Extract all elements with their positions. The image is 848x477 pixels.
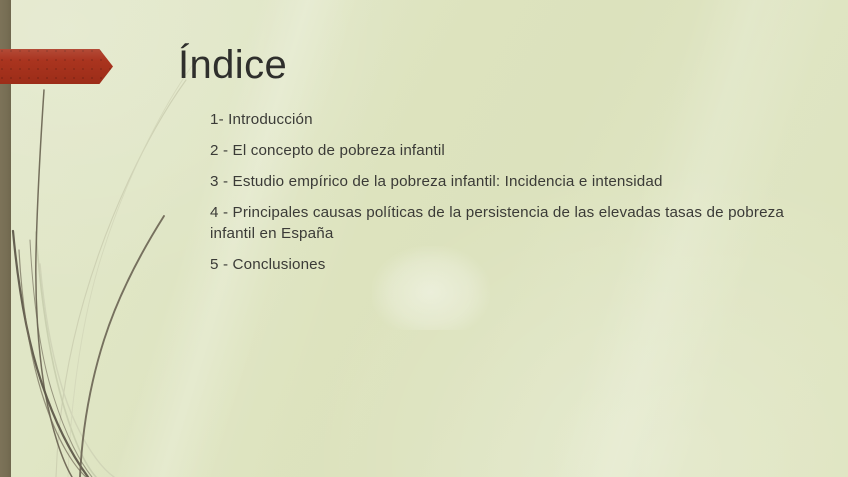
list-item-label: 3 - Estudio empírico de la pobreza infan… bbox=[210, 173, 663, 190]
slide-title: Índice bbox=[178, 40, 287, 90]
list-item: 4 - Principales causas políticas de la p… bbox=[182, 202, 802, 244]
list-item-label: 5 - Conclusiones bbox=[210, 256, 326, 273]
list-item: 5 - Conclusiones bbox=[182, 254, 802, 275]
list-item: 3 - Estudio empírico de la pobreza infan… bbox=[182, 171, 802, 192]
slide-content-list: 1- Introducción 2 - El concepto de pobre… bbox=[182, 109, 802, 275]
presentation-slide: Índice 1- Introducción 2 - El concepto d… bbox=[0, 0, 848, 477]
red-arrow-bullet-icon bbox=[184, 208, 195, 216]
red-arrow-bullet-icon bbox=[184, 260, 195, 268]
list-item-label: 4 - Principales causas políticas de la p… bbox=[210, 204, 784, 242]
red-chevron-banner bbox=[0, 49, 113, 84]
red-arrow-bullet-icon bbox=[184, 115, 195, 123]
red-arrow-bullet-icon bbox=[184, 146, 195, 154]
list-item-label: 1- Introducción bbox=[210, 111, 313, 128]
list-item: 2 - El concepto de pobreza infantil bbox=[182, 140, 802, 161]
list-item-label: 2 - El concepto de pobreza infantil bbox=[210, 142, 445, 159]
chevron-sheen bbox=[0, 49, 113, 84]
red-arrow-bullet-icon bbox=[184, 177, 195, 185]
list-item: 1- Introducción bbox=[182, 109, 802, 130]
